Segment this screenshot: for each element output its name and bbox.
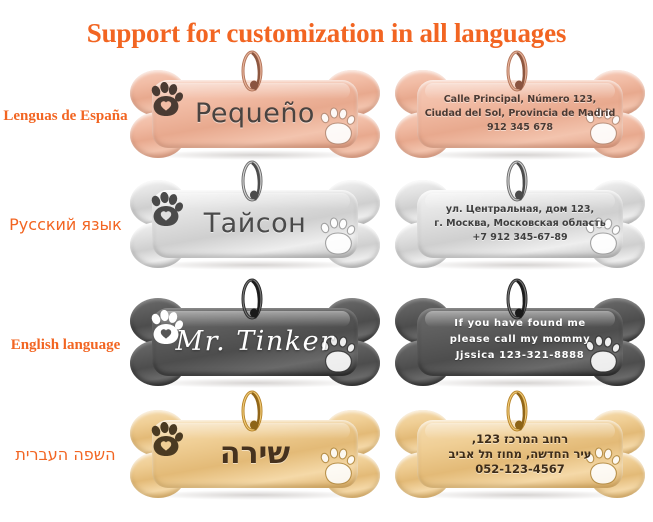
engraved-paw-print-icon [583, 106, 627, 148]
hanging-ring-icon [235, 390, 269, 436]
language-label-russian: Русский язык [0, 215, 133, 234]
hanging-ring-icon [235, 50, 269, 96]
engraved-paw-print-icon [318, 446, 362, 488]
tag-front-hebrew: שירה [130, 406, 380, 502]
tag-front-english: Mr. Tinker [130, 294, 380, 390]
hanging-ring-icon [235, 160, 269, 206]
product-infographic: Support for customization in all languag… [0, 0, 653, 522]
language-label-english: English language [0, 337, 133, 354]
language-label-spanish: Lenguas de España [0, 108, 133, 125]
hanging-ring-icon [500, 160, 534, 206]
tag-back-english: If you have found me please call my momm… [395, 294, 645, 390]
paw-print-icon [148, 422, 184, 458]
hanging-ring-icon [500, 390, 534, 436]
engraved-paw-print-icon [318, 216, 362, 258]
tag-front-russian: Тайсон [130, 176, 380, 272]
language-label-hebrew: השפה העברית [0, 445, 133, 464]
engraved-paw-print-icon [318, 334, 362, 376]
paw-print-icon [148, 192, 184, 228]
engraved-paw-print-icon [583, 334, 627, 376]
tag-back-spanish: Calle Principal, Número 123, Ciudad del … [395, 66, 645, 162]
engraved-paw-print-icon [583, 446, 627, 488]
engraved-paw-print-icon [318, 106, 362, 148]
paw-print-icon [148, 82, 184, 118]
tag-back-hebrew: רחוב המרכז 123, עיר החדשה, מחוז תל אביב … [395, 406, 645, 502]
hanging-ring-icon [235, 278, 269, 324]
paw-print-icon [148, 310, 184, 346]
engraved-paw-print-icon [583, 216, 627, 258]
hanging-ring-icon [500, 50, 534, 96]
page-title: Support for customization in all languag… [0, 18, 653, 49]
tag-front-spanish: Pequeño [130, 66, 380, 162]
hanging-ring-icon [500, 278, 534, 324]
tag-back-russian: ул. Центральная, дом 123, г. Москва, Мос… [395, 176, 645, 272]
